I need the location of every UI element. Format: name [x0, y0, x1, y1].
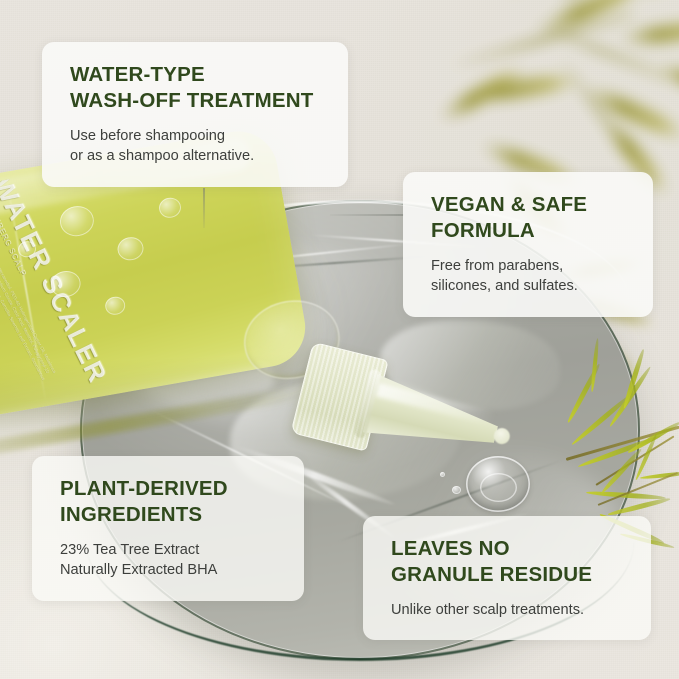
feature-card-body: Use before shampooing or as a shampoo al…	[70, 126, 322, 167]
feature-card-body: Unlike other scalp treatments.	[391, 600, 625, 621]
feature-card-heading: PLANT-DERIVED INGREDIENTS	[60, 476, 278, 528]
feature-card-plant-derived-ingredients: PLANT-DERIVED INGREDIENTS 23% Tea Tree E…	[32, 456, 304, 601]
feature-card-heading: LEAVES NO GRANULE RESIDUE	[391, 536, 625, 588]
feature-card-leaves-no-granule-residue: LEAVES NO GRANULE RESIDUE Unlike other s…	[363, 516, 651, 640]
callout-connector-line-1	[203, 188, 205, 228]
callout-connector-line-2	[330, 214, 404, 216]
feature-card-body: Free from parabens, silicones, and sulfa…	[431, 256, 627, 297]
blurred-tea-tree-foliage	[410, 0, 679, 190]
feature-card-heading: VEGAN & SAFE FORMULA	[431, 192, 627, 244]
feature-card-vegan-and-safe-formula: VEGAN & SAFE FORMULA Free from parabens,…	[403, 172, 653, 317]
feature-card-heading: WATER-TYPE WASH-OFF TREATMENT	[70, 62, 322, 114]
feature-card-body: 23% Tea Tree Extract Naturally Extracted…	[60, 540, 278, 581]
feature-card-water-type-wash-off-treatment: WATER-TYPE WASH-OFF TREATMENT Use before…	[42, 42, 348, 187]
product-feature-scene: Water, Glycerin, Butylene Glycol, Diprop…	[0, 0, 679, 679]
